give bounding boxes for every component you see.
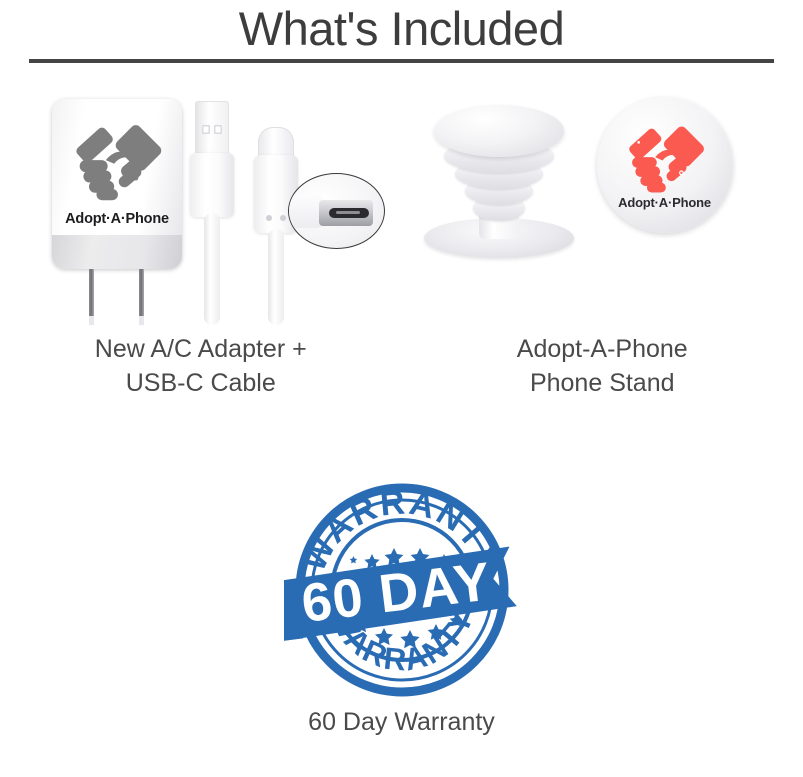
handshake-logo-icon [623, 121, 707, 195]
usb-c-housing-dot [280, 215, 286, 221]
usb-a-housing [190, 153, 234, 217]
usb-a-hole [202, 125, 210, 134]
caption-line-2: USB-C Cable [95, 367, 307, 401]
popsocket-top-cap [434, 105, 564, 157]
cable-cord [268, 229, 284, 325]
products-row: Adopt·A·Phone [0, 77, 803, 401]
handshake-logo-icon [70, 119, 164, 203]
caption-line-1: New A/C Adapter + [95, 333, 307, 367]
adapter-prong [89, 269, 94, 325]
popsocket-expanded-icon [424, 105, 574, 270]
cable-cord [204, 213, 220, 325]
inset-cable-stub [289, 194, 323, 228]
usb-a-connector [195, 101, 229, 155]
disc-brand-text: Adopt·A·Phone [597, 195, 733, 210]
usb-a-hole [214, 125, 222, 134]
product-card-adapter-cable: Adopt·A·Phone [0, 77, 402, 401]
adapter-brand-text: Adopt·A·Phone [52, 211, 182, 227]
adapter-base [52, 235, 182, 269]
ac-adapter-usb-cable-icon: Adopt·A·Phone [0, 77, 402, 327]
warranty-section: WARRANTY WARRANTY [0, 478, 803, 737]
popsocket-phone-stand-icon: Adopt·A·Phone [402, 77, 803, 327]
page-header: What's Included [0, 0, 803, 63]
caption-line-2: Phone Stand [517, 367, 688, 401]
product-caption-phone-stand: Adopt-A-Phone Phone Stand [517, 333, 688, 401]
page-title: What's Included [0, 4, 803, 55]
warranty-caption: 60 Day Warranty [308, 708, 495, 737]
product-card-phone-stand: Adopt·A·Phone Adopt-A-Phone Phone Stand [402, 77, 803, 401]
inset-connector-slot [329, 208, 369, 218]
warranty-stamp-svg: WARRANTY WARRANTY [284, 478, 520, 702]
adapter-prong [139, 269, 144, 325]
ac-adapter-icon: Adopt·A·Phone [52, 99, 182, 324]
usb-c-housing-dot [266, 215, 272, 221]
warranty-stamp-icon: WARRANTY WARRANTY [284, 478, 520, 702]
usb-c-connector-closeup-icon [288, 173, 385, 249]
title-divider [29, 59, 774, 63]
caption-line-1: Adopt-A-Phone [517, 333, 688, 367]
usb-c-connector [258, 127, 294, 159]
product-caption-adapter-cable: New A/C Adapter + USB-C Cable [95, 333, 307, 401]
popsocket-logo-disc: Adopt·A·Phone [597, 97, 733, 233]
